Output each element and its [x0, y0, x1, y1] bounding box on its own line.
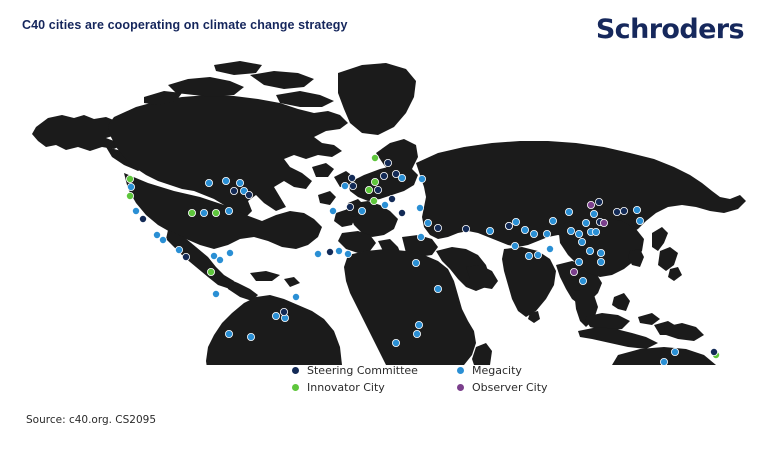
city-marker-megacity[interactable]	[575, 230, 582, 237]
city-marker-steering-committee[interactable]	[398, 209, 405, 216]
city-marker-innovator-city[interactable]	[371, 178, 378, 185]
legend-label-innovator-city: Innovator City	[307, 381, 385, 394]
city-marker-megacity[interactable]	[416, 204, 423, 211]
city-marker-innovator-city[interactable]	[188, 209, 195, 216]
city-marker-megacity[interactable]	[543, 230, 550, 237]
source-note: Source: c40.org. CS2095	[26, 414, 156, 426]
city-marker-megacity[interactable]	[412, 259, 419, 266]
city-marker-megacity[interactable]	[671, 348, 678, 355]
city-marker-steering-committee[interactable]	[348, 174, 355, 181]
city-marker-megacity[interactable]	[546, 245, 553, 252]
city-marker-megacity[interactable]	[314, 250, 321, 257]
city-marker-megacity[interactable]	[335, 247, 342, 254]
city-marker-megacity[interactable]	[418, 175, 425, 182]
city-marker-megacity[interactable]	[530, 230, 537, 237]
city-marker-steering-committee[interactable]	[388, 195, 395, 202]
city-marker-megacity[interactable]	[424, 219, 431, 226]
city-marker-innovator-city[interactable]	[365, 186, 372, 193]
city-marker-megacity[interactable]	[597, 258, 604, 265]
legend-item-innovator-city[interactable]: Innovator City	[292, 381, 385, 394]
page-title: C40 cities are cooperating on climate ch…	[22, 18, 348, 32]
city-marker-megacity[interactable]	[329, 207, 336, 214]
city-marker-steering-committee[interactable]	[349, 182, 356, 189]
city-marker-steering-committee[interactable]	[384, 159, 391, 166]
city-marker-megacity[interactable]	[575, 258, 582, 265]
city-marker-megacity[interactable]	[216, 256, 223, 263]
city-marker-megacity[interactable]	[590, 210, 597, 217]
city-marker-steering-committee[interactable]	[139, 215, 146, 222]
legend-label-observer-city: Observer City	[472, 381, 548, 394]
city-marker-steering-committee[interactable]	[245, 191, 252, 198]
city-marker-steering-committee[interactable]	[182, 253, 189, 260]
city-marker-megacity[interactable]	[415, 321, 422, 328]
schroders-logo: Schroders	[596, 16, 744, 43]
city-marker-megacity[interactable]	[549, 217, 556, 224]
city-marker-innovator-city[interactable]	[212, 209, 219, 216]
city-marker-megacity[interactable]	[272, 312, 279, 319]
city-marker-observer-city[interactable]	[600, 219, 607, 226]
city-marker-megacity[interactable]	[521, 226, 528, 233]
city-marker-innovator-city[interactable]	[126, 175, 133, 182]
city-marker-megacity[interactable]	[159, 236, 166, 243]
legend-item-steering-committee[interactable]: Steering Committee	[292, 364, 418, 377]
city-marker-megacity[interactable]	[633, 206, 640, 213]
city-marker-megacity[interactable]	[660, 358, 667, 365]
city-marker-innovator-city[interactable]	[371, 154, 378, 161]
city-marker-megacity[interactable]	[153, 231, 160, 238]
city-marker-megacity[interactable]	[486, 227, 493, 234]
city-marker-megacity[interactable]	[225, 330, 232, 337]
city-marker-steering-committee[interactable]	[710, 348, 717, 355]
legend-label-megacity: Megacity	[472, 364, 522, 377]
city-marker-megacity[interactable]	[511, 242, 518, 249]
city-marker-megacity[interactable]	[434, 285, 441, 292]
legend-swatch-observer-city	[457, 384, 464, 391]
city-marker-megacity[interactable]	[212, 290, 219, 297]
slide-canvas: C40 cities are cooperating on climate ch…	[0, 0, 770, 450]
city-marker-observer-city[interactable]	[570, 268, 577, 275]
city-marker-megacity[interactable]	[597, 249, 604, 256]
legend-swatch-steering-committee	[292, 367, 299, 374]
city-marker-megacity[interactable]	[381, 201, 388, 208]
city-marker-innovator-city[interactable]	[207, 268, 214, 275]
city-marker-steering-committee[interactable]	[374, 186, 381, 193]
city-marker-megacity[interactable]	[292, 293, 299, 300]
city-marker-megacity[interactable]	[582, 219, 589, 226]
city-marker-steering-committee[interactable]	[462, 225, 469, 232]
city-marker-steering-committee[interactable]	[380, 172, 387, 179]
city-marker-megacity[interactable]	[225, 207, 232, 214]
city-marker-megacity[interactable]	[236, 179, 243, 186]
city-marker-steering-committee[interactable]	[346, 203, 353, 210]
city-marker-steering-committee[interactable]	[595, 198, 602, 205]
legend-label-steering-committee: Steering Committee	[307, 364, 418, 377]
city-marker-megacity[interactable]	[417, 233, 424, 240]
city-marker-steering-committee[interactable]	[326, 248, 333, 255]
city-marker-megacity[interactable]	[200, 209, 207, 216]
world-map-svg	[18, 55, 752, 365]
city-marker-megacity[interactable]	[205, 179, 212, 186]
city-marker-megacity[interactable]	[392, 339, 399, 346]
city-marker-megacity[interactable]	[512, 218, 519, 225]
city-marker-steering-committee[interactable]	[230, 187, 237, 194]
city-marker-megacity[interactable]	[222, 177, 229, 184]
city-marker-megacity[interactable]	[358, 207, 365, 214]
city-marker-megacity[interactable]	[567, 227, 574, 234]
city-marker-observer-city[interactable]	[587, 201, 594, 208]
world-map	[18, 55, 752, 365]
city-marker-megacity[interactable]	[132, 207, 139, 214]
city-marker-steering-committee[interactable]	[280, 308, 287, 315]
city-marker-megacity[interactable]	[175, 246, 182, 253]
city-marker-megacity[interactable]	[565, 208, 572, 215]
city-marker-megacity[interactable]	[636, 217, 643, 224]
city-marker-megacity[interactable]	[586, 247, 593, 254]
city-marker-megacity[interactable]	[344, 250, 351, 257]
legend-item-observer-city[interactable]: Observer City	[457, 381, 548, 394]
city-marker-innovator-city[interactable]	[370, 197, 377, 204]
city-marker-megacity[interactable]	[578, 238, 585, 245]
legend: Steering Committee Innovator City Megaci…	[292, 364, 582, 398]
city-marker-megacity[interactable]	[247, 333, 254, 340]
city-marker-megacity[interactable]	[341, 182, 348, 189]
city-marker-steering-committee[interactable]	[505, 222, 512, 229]
city-marker-megacity[interactable]	[413, 330, 420, 337]
city-marker-megacity[interactable]	[592, 228, 599, 235]
city-marker-steering-committee[interactable]	[620, 207, 627, 214]
city-marker-megacity[interactable]	[226, 249, 233, 256]
city-marker-megacity[interactable]	[127, 183, 134, 190]
legend-swatch-megacity	[457, 367, 464, 374]
legend-swatch-innovator-city	[292, 384, 299, 391]
city-marker-steering-committee[interactable]	[434, 224, 441, 231]
city-marker-megacity[interactable]	[398, 174, 405, 181]
city-marker-megacity[interactable]	[579, 277, 586, 284]
city-marker-innovator-city[interactable]	[126, 192, 133, 199]
city-marker-megacity[interactable]	[525, 252, 532, 259]
city-marker-steering-committee[interactable]	[613, 208, 620, 215]
legend-item-megacity[interactable]: Megacity	[457, 364, 522, 377]
city-marker-megacity[interactable]	[534, 251, 541, 258]
